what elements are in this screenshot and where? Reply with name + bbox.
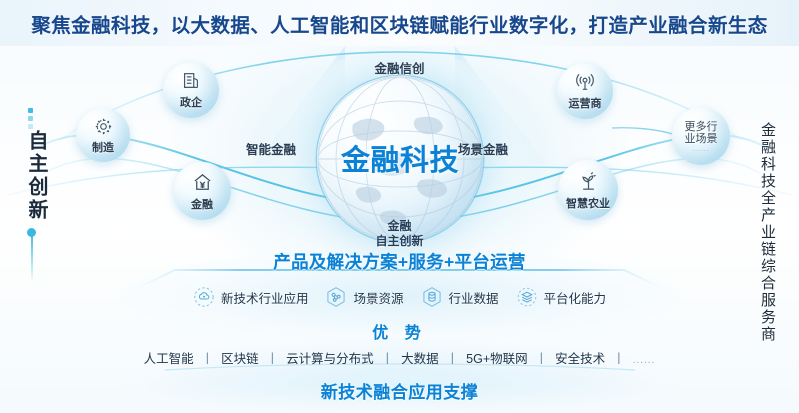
capability-label: 新技术行业应用 xyxy=(221,288,309,307)
antenna-tower-icon xyxy=(574,71,596,93)
tech-tag: 人工智能 xyxy=(144,352,194,366)
foundation-headline: 新技术融合应用支撑 xyxy=(0,378,799,403)
building-icon xyxy=(180,70,202,92)
tag-separator: 丨 xyxy=(262,352,283,366)
tech-tag-ellipsis: ...... xyxy=(633,355,656,366)
capability-item-scenario-resources[interactable]: 场景资源 xyxy=(325,286,403,308)
bubble-label: 智慧农业 xyxy=(566,195,610,211)
tag-separator: 丨 xyxy=(197,352,218,366)
tag-separator: 丨 xyxy=(442,352,463,366)
bubble-finance[interactable]: 金融 xyxy=(173,162,231,220)
platform-headline: 产品及解决方案+服务+平台运营 xyxy=(0,249,799,274)
bubble-label: 金融 xyxy=(191,196,213,212)
capability-label: 行业数据 xyxy=(449,288,499,307)
tech-tag: 大数据 xyxy=(401,352,439,366)
bubble-more-scenarios[interactable]: 更多行 业场景 ...... xyxy=(672,107,730,165)
bubble-telecom-operator[interactable]: 运营商 xyxy=(557,63,613,119)
cloud-icon xyxy=(193,286,215,308)
tech-tag: 安全技术 xyxy=(555,352,605,366)
left-accent-dots xyxy=(28,108,33,129)
layers-icon xyxy=(516,286,538,308)
bubble-label: 运营商 xyxy=(569,95,602,111)
platform-subtitle-line1: 金融 xyxy=(387,219,411,233)
capability-label: 平台化能力 xyxy=(544,288,607,307)
central-globe: 金融科技 xyxy=(317,76,483,242)
advantage-heading: 优 势 xyxy=(0,319,799,343)
capability-list: 新技术行业应用 场景资源 行业数据 xyxy=(0,286,799,308)
label-smart-finance: 智能金融 xyxy=(246,139,296,158)
bubble-smart-agriculture[interactable]: 智慧农业 xyxy=(558,160,618,220)
capability-item-industry-data[interactable]: 行业数据 xyxy=(421,286,499,308)
capability-label: 场景资源 xyxy=(353,288,403,307)
gear-icon xyxy=(93,116,114,137)
tag-separator: 丨 xyxy=(377,352,398,366)
bubble-ellipsis: ...... xyxy=(692,146,710,153)
capability-item-new-tech[interactable]: 新技术行业应用 xyxy=(193,286,309,308)
database-icon xyxy=(421,286,443,308)
bubble-label: 政企 xyxy=(180,94,202,110)
technology-tag-list: 人工智能 丨 区块链 丨 云计算与分布式 丨 大数据 丨 5G+物联网 丨 安全… xyxy=(0,348,799,367)
platform-subtitle-line2: 自主创新 xyxy=(375,234,423,248)
label-scenario-finance: 场景金融 xyxy=(458,139,508,158)
tech-tag: 区块链 xyxy=(221,352,259,366)
tech-tag: 5G+物联网 xyxy=(466,352,527,366)
left-vertical-label: 自主创新 xyxy=(22,130,51,222)
sprout-icon xyxy=(577,170,600,193)
infographic-canvas: 聚焦金融科技，以大数据、人工智能和区块链赋能行业数字化，打造产业融合新生态 xyxy=(0,0,799,413)
network-nodes-icon xyxy=(325,286,347,308)
bubble-label: 更多行 业场景 xyxy=(685,121,718,146)
bubble-label: 制造 xyxy=(92,139,114,155)
platform-subtitle: 金融 自主创新 xyxy=(0,219,799,250)
tech-tag: 云计算与分布式 xyxy=(286,352,374,366)
bubble-manufacturing[interactable]: 制造 xyxy=(76,108,130,162)
bubble-government-enterprise[interactable]: 政企 xyxy=(163,62,219,118)
tag-separator: 丨 xyxy=(609,352,630,366)
label-financial-innovation: 金融信创 xyxy=(0,58,799,77)
capability-item-platform-capability[interactable]: 平台化能力 xyxy=(516,286,607,308)
bank-yuan-icon xyxy=(191,171,214,194)
tag-separator: 丨 xyxy=(531,352,552,366)
